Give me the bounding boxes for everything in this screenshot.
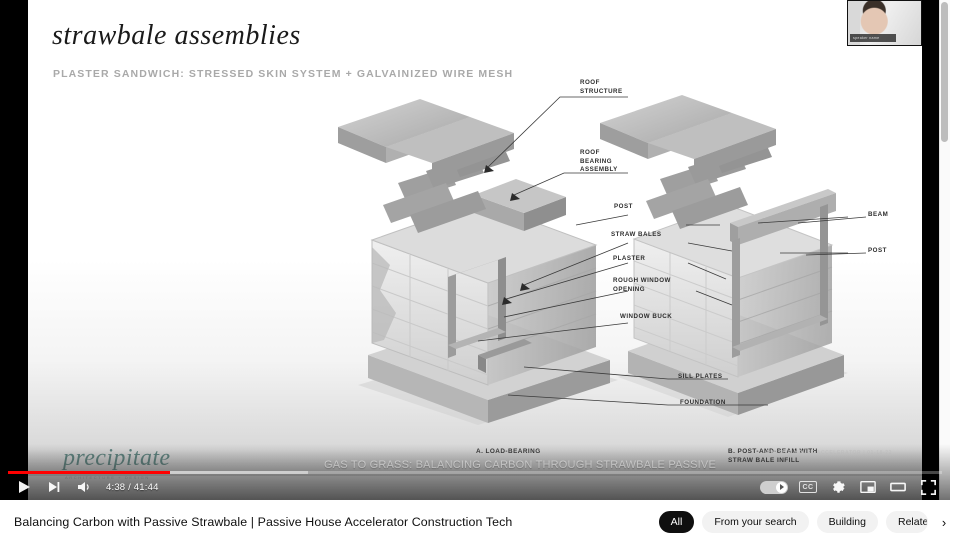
diagram-label: ROOF BEARING ASSEMBLY bbox=[580, 149, 618, 175]
volume-button[interactable] bbox=[70, 474, 98, 500]
player-controls-left[interactable]: 4:38 / 41:44 bbox=[10, 474, 159, 500]
player-controls[interactable]: 4:38 / 41:44 CC bbox=[0, 474, 950, 500]
cc-icon: CC bbox=[799, 481, 816, 493]
diagram-label: ROOF STRUCTURE bbox=[580, 79, 623, 96]
video-stage[interactable]: strawbale assemblies PLASTER SANDWICH: S… bbox=[28, 0, 922, 500]
autoplay-knob bbox=[776, 482, 787, 493]
webcam-name-label: speaker name bbox=[850, 34, 896, 42]
play-button[interactable] bbox=[10, 474, 38, 500]
strawbale-assembly-diagram: ROOF STRUCTURE ROOF BEARING ASSEMBLY POS… bbox=[328, 55, 888, 455]
theater-mode-button[interactable] bbox=[884, 474, 912, 500]
ticker-subtext: PASSIVE HOUSE ACCELERATOR | 01-18-22 bbox=[767, 450, 892, 456]
chip-building[interactable]: Building bbox=[817, 511, 878, 533]
settings-button[interactable] bbox=[824, 474, 852, 500]
miniplayer-button[interactable] bbox=[854, 474, 882, 500]
next-video-button[interactable] bbox=[40, 474, 68, 500]
diagram-label: FOUNDATION bbox=[680, 399, 726, 408]
player-controls-right[interactable]: CC bbox=[756, 474, 942, 500]
theater-icon bbox=[890, 480, 906, 494]
diagram-label: SILL PLATES bbox=[678, 373, 722, 382]
youtube-watch-page: strawbale assemblies PLASTER SANDWICH: S… bbox=[0, 0, 960, 540]
webcam-overlay: speaker name bbox=[847, 0, 922, 46]
diagram-label: PLASTER bbox=[613, 255, 645, 264]
video-player[interactable]: strawbale assemblies PLASTER SANDWICH: S… bbox=[0, 0, 950, 500]
diagram-label: BEAM bbox=[868, 211, 888, 220]
filter-chip-bar[interactable]: All From your search Building Related › bbox=[659, 511, 952, 533]
subtitles-cc-button[interactable]: CC bbox=[794, 474, 822, 500]
diagram-label: POST bbox=[868, 247, 887, 256]
chip-related[interactable]: Related bbox=[886, 511, 928, 533]
presentation-slide: strawbale assemblies PLASTER SANDWICH: S… bbox=[28, 0, 922, 500]
diagram-svg bbox=[328, 55, 888, 455]
diagram-label: ROUGH WINDOW OPENING bbox=[613, 277, 671, 294]
page-scroll-track[interactable] bbox=[939, 0, 950, 500]
fullscreen-button[interactable] bbox=[914, 474, 942, 500]
chip-all[interactable]: All bbox=[659, 511, 695, 533]
diagram-label: WINDOW BUCK bbox=[620, 313, 672, 322]
slide-title: strawbale assemblies bbox=[52, 20, 301, 52]
video-meta-row: Balancing Carbon with Passive Strawbale … bbox=[0, 500, 960, 540]
diagram-label: POST bbox=[614, 203, 633, 212]
fullscreen-icon bbox=[921, 480, 936, 495]
chevron-right-icon[interactable]: › bbox=[936, 515, 952, 530]
page-scrollbar-thumb[interactable] bbox=[941, 2, 948, 142]
autoplay-toggle[interactable] bbox=[760, 481, 788, 494]
gear-icon bbox=[830, 479, 847, 496]
chip-from-your-search[interactable]: From your search bbox=[702, 511, 808, 533]
video-title[interactable]: Balancing Carbon with Passive Strawbale … bbox=[14, 515, 512, 529]
miniplayer-icon bbox=[860, 480, 876, 494]
diagram-label: STRAW BALES bbox=[611, 231, 662, 240]
time-display: 4:38 / 41:44 bbox=[106, 482, 159, 493]
